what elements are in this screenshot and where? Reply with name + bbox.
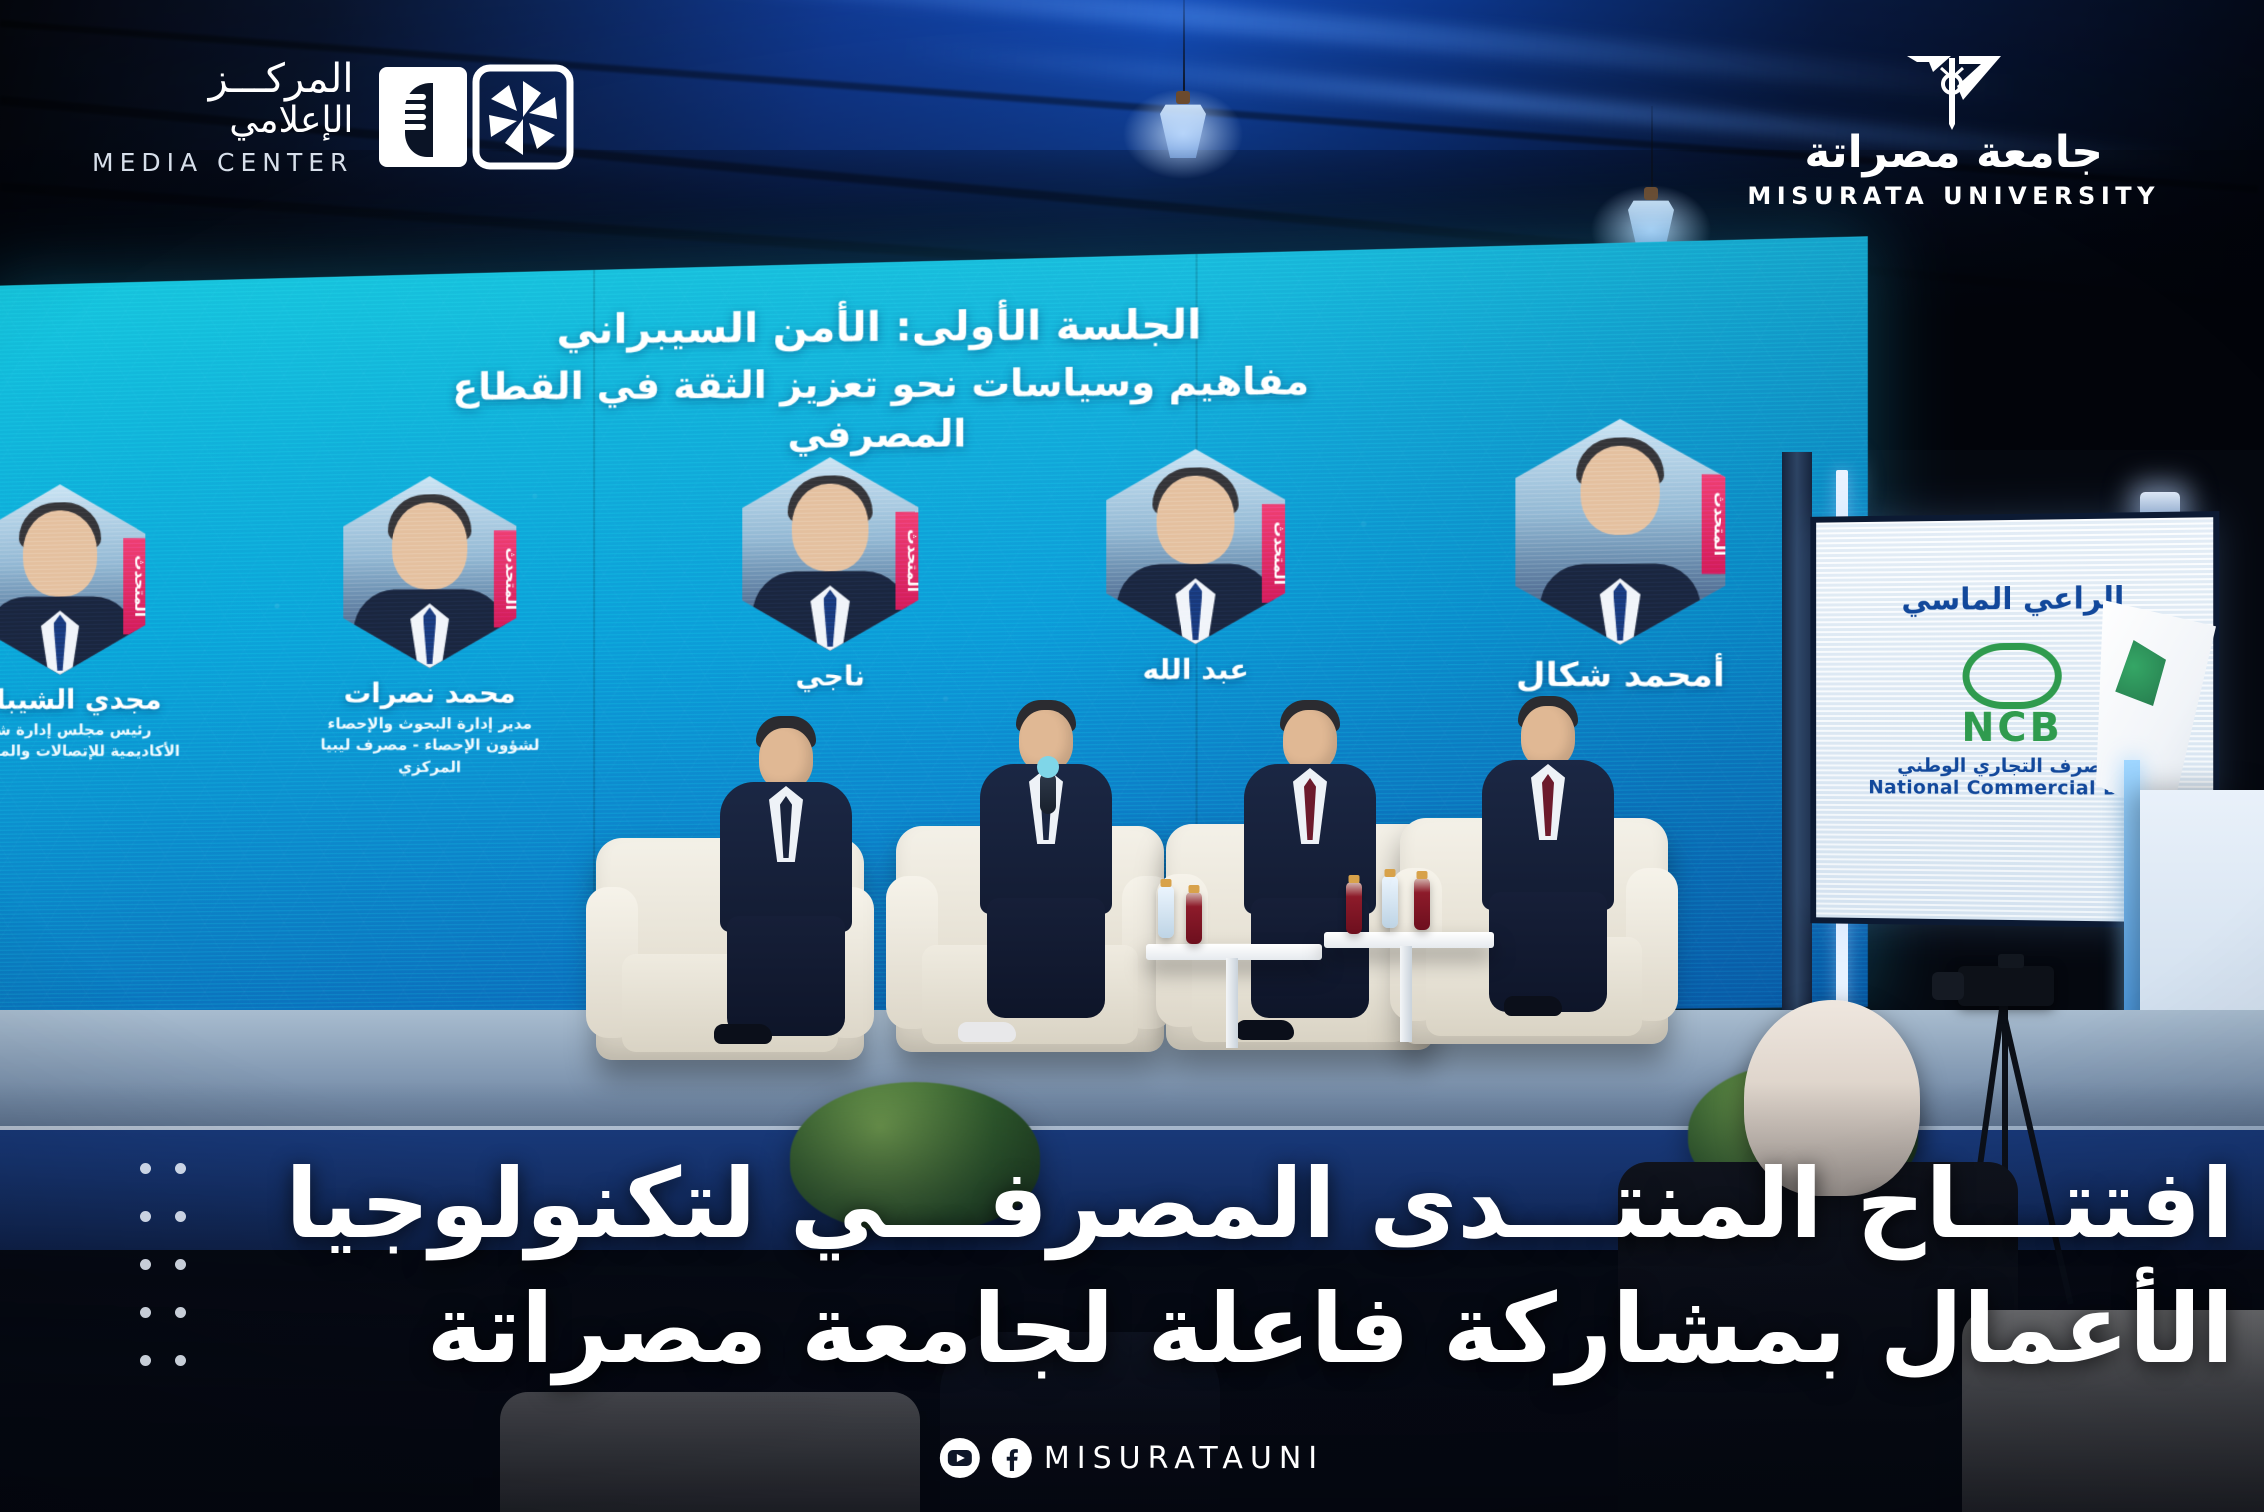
speaker-name: مجدي الشيباني [0, 685, 201, 716]
microphone-head-icon [1037, 756, 1059, 778]
headline-line-2: الأعمال بمشاركة فاعلة لجامعة مصراتة [134, 1267, 2234, 1392]
speaker-head [23, 510, 97, 596]
session-title-block: الجلسة الأولى: الأمن السيبراني مفاهيم وس… [399, 297, 1364, 463]
speaker-photo: المتحدث [1515, 418, 1725, 645]
bottle-cap [1189, 885, 1200, 893]
panelist-head [759, 728, 813, 790]
panelist-legs [727, 916, 845, 1036]
session-title: الجلسة الأولى: الأمن السيبراني [399, 297, 1364, 358]
media-center-arabic-line-1: المركـــز [92, 58, 353, 101]
university-name-arabic: جامعة مصراتة [1747, 130, 2160, 176]
media-center-marks [375, 63, 575, 171]
speaker-card: المتحدث محمد نصرات مدير إدارة البحوث وال… [288, 476, 573, 779]
pendant-lamp [1160, 100, 1206, 158]
speaker-name: عبد الله [1059, 654, 1333, 686]
media-center-wordmark: المركـــز الإعلامي MEDIA CENTER [92, 58, 353, 177]
microphone-icon [375, 63, 471, 171]
facebook-icon[interactable] [992, 1438, 1032, 1478]
speaker-name: محمد نصرات [288, 678, 573, 709]
bottle-cap [1161, 879, 1172, 887]
video-camera [1958, 966, 2054, 1006]
media-center-logo: المركـــز الإعلامي MEDIA CENTER [92, 58, 575, 177]
social-handle: MISURATAUNI [1044, 1441, 1324, 1476]
speaker-head [1157, 476, 1235, 565]
side-table-leg [1226, 958, 1238, 1048]
speaker-title: مدير إدارة البحوث والإحصاء لشؤون الإحصاء… [303, 713, 558, 778]
headline-line-1: افتتـــاح المنتـــدى المصرفـــي لتكنولوج… [134, 1142, 2234, 1267]
speaker-badge: المتحدث [895, 512, 918, 610]
camera-lens-icon [1932, 972, 1964, 1000]
handheld-microphone [1040, 772, 1056, 814]
speaker-card: المتحدث عبد الله [1059, 448, 1333, 686]
speaker-head [392, 502, 467, 589]
speaker-head [792, 483, 869, 571]
side-table-leg [1400, 946, 1412, 1042]
bottle-cap [1385, 869, 1396, 877]
bottle-cap [1349, 875, 1360, 883]
camera-viewfinder [1998, 954, 2024, 968]
panelist-legs [987, 898, 1105, 1018]
panelist-head [1283, 710, 1337, 772]
juice-bottle [1186, 892, 1202, 944]
headline-block: افتتـــاح المنتـــدى المصرفـــي لتكنولوج… [134, 1142, 2234, 1392]
speaker-name: أمحمد شكال [1460, 655, 1781, 695]
speaker-badge: المتحدث [494, 530, 516, 627]
speaker-head [1581, 446, 1660, 535]
youtube-icon[interactable] [940, 1438, 980, 1478]
juice-bottle [1414, 878, 1430, 930]
audience-chair [500, 1392, 920, 1512]
bottle-cap [1417, 871, 1428, 879]
juice-bottle [1346, 882, 1362, 934]
speaker-badge: المتحدث [1262, 504, 1285, 603]
speaker-title: رئيس مجلس إدارة شركة الأكاديمية للإتصالا… [0, 720, 186, 763]
water-bottle [1158, 886, 1174, 938]
speaker-badge: المتحدث [1702, 474, 1726, 574]
ncb-emblem-icon [1963, 643, 2062, 709]
social-footer[interactable]: MISURATAUNI [940, 1438, 1324, 1478]
lamp-socket [1176, 91, 1190, 104]
speaker-badge: المتحدث [123, 538, 145, 634]
lamp-wire [1183, 0, 1185, 100]
panelist [1468, 696, 1628, 1044]
panelist [1230, 700, 1390, 1048]
media-center-arabic-line-2: الإعلامي [92, 101, 353, 141]
speaker-photo: المتحدث [343, 476, 516, 668]
speaker-name: ناجي [696, 661, 965, 693]
water-bottle [1382, 876, 1398, 928]
misurata-university-emblem-icon [1889, 50, 2019, 130]
speaker-photo: المتحدث [742, 457, 918, 651]
university-name-english: MISURATA UNIVERSITY [1747, 182, 2160, 210]
stage-truss [1782, 452, 1812, 1062]
stage-spotlight [2140, 492, 2180, 518]
panelist [706, 716, 866, 1046]
media-center-english: MEDIA CENTER [92, 148, 353, 177]
panelist-shoe [1504, 996, 1562, 1016]
speaker-card: المتحدث ناجي [696, 456, 965, 692]
panelist-head [1521, 706, 1575, 768]
session-subtitle: مفاهيم وسياسات نحو تعزيز الثقة في القطاع… [399, 356, 1364, 463]
misurata-university-logo: جامعة مصراتة MISURATA UNIVERSITY [1747, 50, 2160, 210]
speaker-card: المتحدث مجدي الشيباني رئيس مجلس إدارة شر… [0, 484, 201, 763]
camera-aperture-icon [471, 63, 575, 171]
speaker-photo: المتحدث [0, 484, 145, 675]
event-poster: الجلسة الأولى: الأمن السيبراني مفاهيم وس… [0, 0, 2264, 1512]
panelist-shoe [958, 1022, 1016, 1042]
panelist-shoe [1236, 1020, 1294, 1040]
speaker-card: المتحدث أمحمد شكال [1460, 418, 1781, 694]
panelist-legs [1489, 892, 1607, 1012]
panelist-shoe [714, 1024, 772, 1044]
speaker-photo: المتحدث [1106, 449, 1285, 645]
lamp-socket [1644, 187, 1658, 200]
panelist [966, 700, 1126, 1048]
